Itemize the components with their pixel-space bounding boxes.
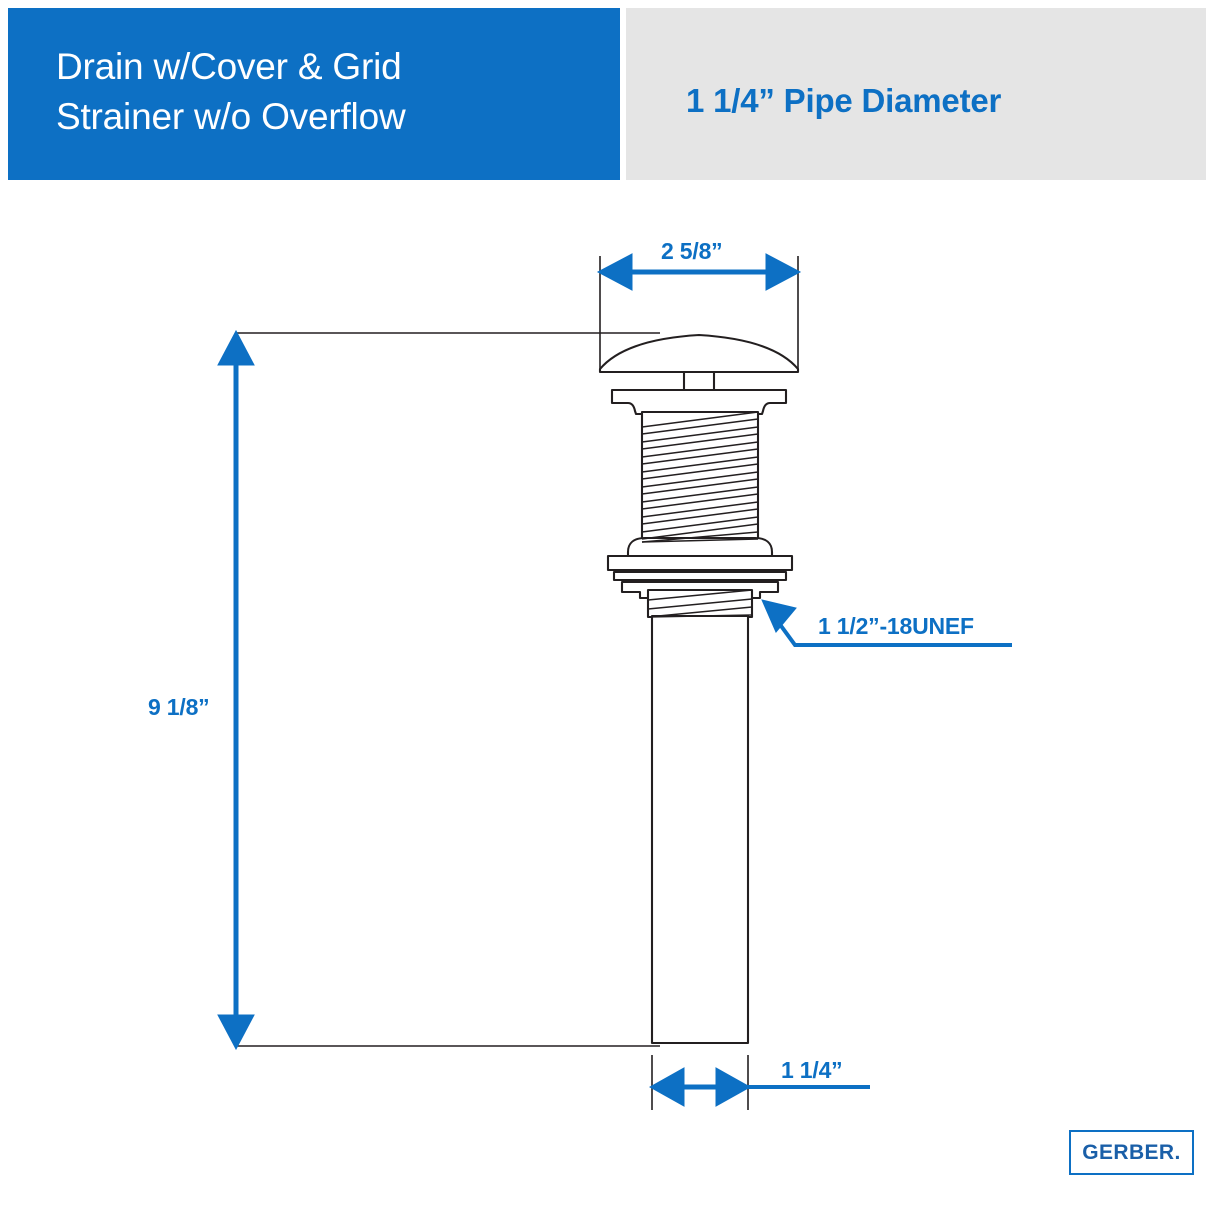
arrow-down-height: [218, 1015, 254, 1049]
cover-cap-dome: [600, 335, 798, 372]
arrow-left-cap: [598, 254, 632, 290]
arrow-up-height: [218, 331, 254, 365]
gasket-ring: [614, 572, 786, 580]
arrow-right-cap: [766, 254, 800, 290]
cap-stem: [684, 372, 714, 390]
arrow-left-tailpiece: [650, 1068, 684, 1106]
gerber-logo: GERBER.: [1069, 1130, 1194, 1175]
arrow-right-tailpiece: [716, 1068, 750, 1106]
dim-label-tailpiece-diameter: 1 1/4”: [781, 1057, 842, 1084]
product-dimension-drawing: [0, 0, 1214, 1214]
dim-label-overall-height: 9 1/8”: [148, 694, 209, 721]
gerber-logo-text: GERBER.: [1071, 1132, 1192, 1173]
upper-flange: [612, 390, 786, 414]
washer-plate: [608, 556, 792, 570]
dim-overall-height: [218, 331, 254, 1049]
diagram-page: Drain w/Cover & Grid Strainer w/o Overfl…: [0, 0, 1214, 1214]
arrow-thread-callout: [762, 600, 796, 632]
callout-label-thread-spec: 1 1/2”-18UNEF: [818, 613, 974, 640]
dimension-annotations: [218, 254, 1012, 1106]
dim-label-cap-diameter: 2 5/8”: [661, 238, 722, 265]
tailpiece-tube: [652, 616, 748, 1043]
